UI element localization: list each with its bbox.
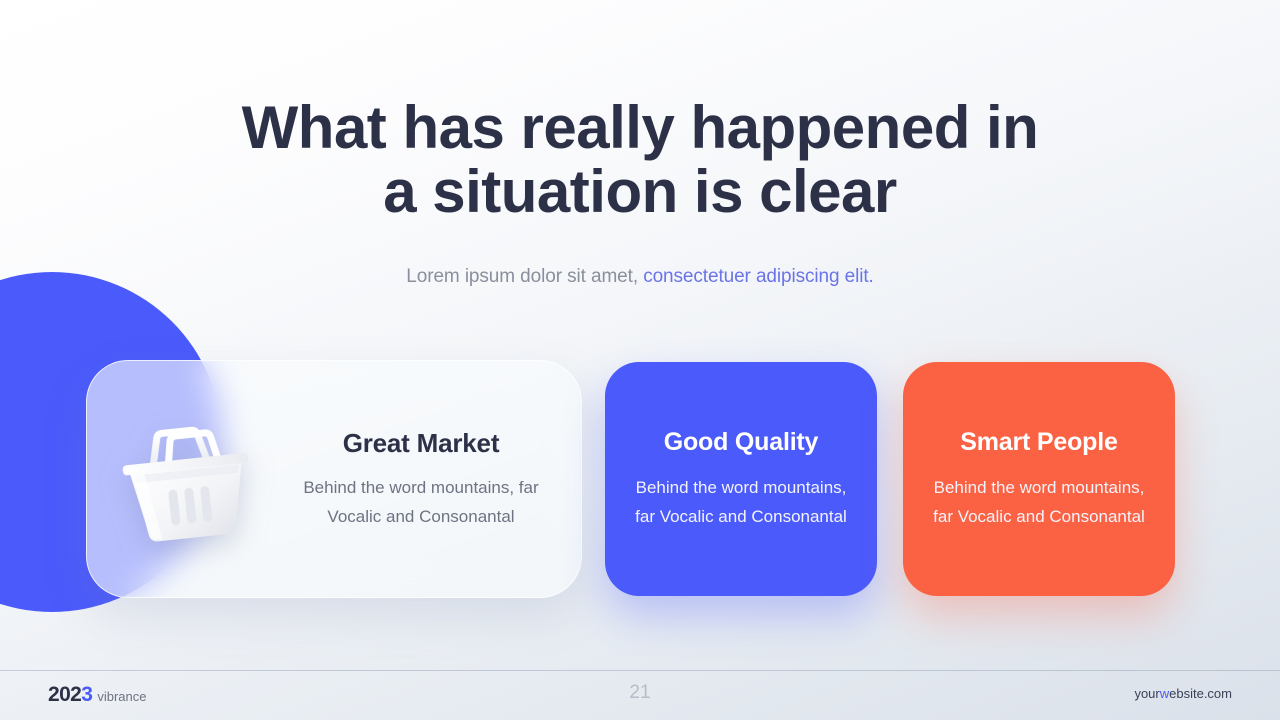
card-body: Behind the word mountains, far Vocalic a… xyxy=(627,473,855,531)
card-body: Behind the word mountains, far Vocalic a… xyxy=(287,473,555,531)
website-prefix: your xyxy=(1134,686,1159,701)
presentation-slide: What has really happened in a situation … xyxy=(0,0,1280,720)
website-suffix: ebsite.com xyxy=(1169,686,1232,701)
card-title: Smart People xyxy=(960,428,1117,457)
subtitle-accent-text: consectetuer adipiscing elit. xyxy=(638,266,874,287)
website-url[interactable]: yourwebsite.com xyxy=(1134,686,1232,701)
title-line-1: What has really happened in xyxy=(0,96,1280,160)
feature-card-good-quality[interactable]: Good Quality Behind the word mountains, … xyxy=(605,362,877,596)
page-title: What has really happened in a situation … xyxy=(0,96,1280,224)
card-title: Great Market xyxy=(287,428,555,459)
feature-card-smart-people[interactable]: Smart People Behind the word mountains, … xyxy=(903,362,1175,596)
feature-card-great-market[interactable]: Great Market Behind the word mountains, … xyxy=(86,360,582,598)
page-number: 21 xyxy=(0,682,1280,704)
card-title: Good Quality xyxy=(664,428,819,457)
shopping-basket-3d-icon xyxy=(105,397,270,562)
card-icon-zone xyxy=(87,361,287,597)
card-text-zone: Great Market Behind the word mountains, … xyxy=(287,428,581,531)
card-body: Behind the word mountains, far Vocalic a… xyxy=(925,473,1153,531)
footer-divider xyxy=(0,670,1280,671)
website-accent-letter: w xyxy=(1160,686,1169,701)
subtitle: Lorem ipsum dolor sit amet, consectetuer… xyxy=(0,264,1280,290)
title-line-2: a situation is clear xyxy=(0,160,1280,224)
subtitle-plain-text: Lorem ipsum dolor sit amet, xyxy=(406,266,638,287)
